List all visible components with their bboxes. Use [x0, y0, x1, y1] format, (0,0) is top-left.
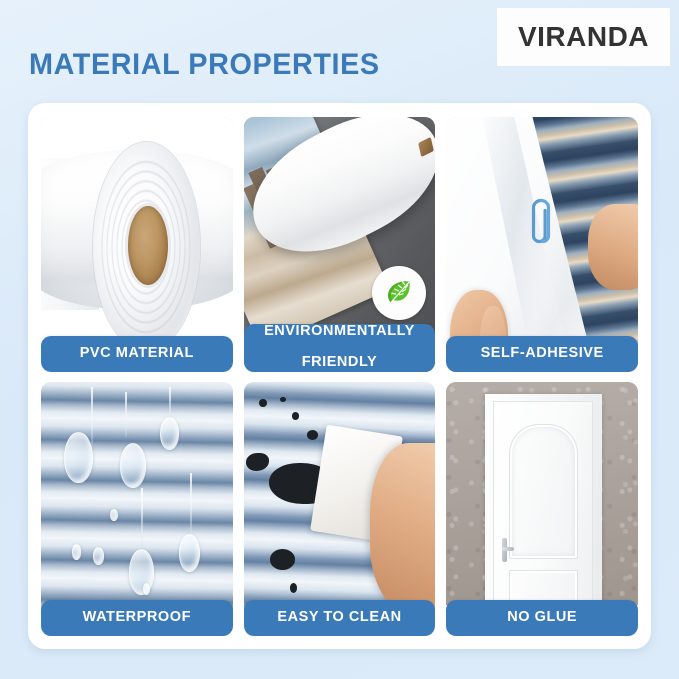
- self-adhesive-photo: [446, 117, 638, 372]
- feature-label-text: WATERPROOF: [79, 610, 195, 626]
- feature-label-text: ENVIRONMENTALLYFRIENDLY: [256, 324, 423, 371]
- feature-label-text: SELF-ADHESIVE: [477, 346, 608, 362]
- feature-tile-no-glue[interactable]: NO GLUE: [446, 382, 638, 637]
- feature-tile-self-adhesive[interactable]: SELF-ADHESIVE: [446, 117, 638, 372]
- brand-name: VIRANDA: [518, 21, 649, 53]
- brand-logo-box: VIRANDA: [497, 8, 670, 66]
- feature-label-text: EASY TO CLEAN: [273, 610, 405, 626]
- feature-label-banner: EASY TO CLEAN: [244, 600, 436, 636]
- feature-label-banner: NO GLUE: [446, 600, 638, 636]
- leaf-badge: [372, 266, 426, 320]
- feature-tile-pvc-material[interactable]: PVC MATERIAL: [41, 117, 233, 372]
- features-grid: PVC MATERIAL: [41, 117, 638, 636]
- door-leaf: [493, 401, 594, 618]
- feature-tile-environmentally-friendly[interactable]: ENVIRONMENTALLYFRIENDLY: [244, 117, 436, 372]
- pvc-roll-photo: [41, 117, 233, 372]
- feature-tile-easy-to-clean[interactable]: EASY TO CLEAN: [244, 382, 436, 637]
- feature-tile-waterproof[interactable]: WATERPROOF: [41, 382, 233, 637]
- hand-right: [588, 204, 638, 291]
- door-frame: [485, 394, 602, 618]
- feature-label-banner: SELF-ADHESIVE: [446, 336, 638, 372]
- waterproof-photo: [41, 382, 233, 637]
- paperclip-icon: [523, 196, 559, 248]
- feature-label-banner: ENVIRONMENTALLYFRIENDLY: [244, 324, 436, 372]
- door-handle-icon: [498, 538, 512, 562]
- leaf-icon: [382, 276, 416, 310]
- page-title: MATERIAL PROPERTIES: [29, 48, 380, 82]
- features-card: PVC MATERIAL: [28, 103, 651, 649]
- feature-label-text: NO GLUE: [503, 610, 581, 626]
- feature-label-text: PVC MATERIAL: [76, 346, 198, 362]
- feature-label-banner: PVC MATERIAL: [41, 336, 233, 372]
- no-glue-photo: [446, 382, 638, 637]
- hand-holding-cloth: [370, 443, 435, 611]
- feature-label-banner: WATERPROOF: [41, 600, 233, 636]
- easy-to-clean-photo: [244, 382, 436, 637]
